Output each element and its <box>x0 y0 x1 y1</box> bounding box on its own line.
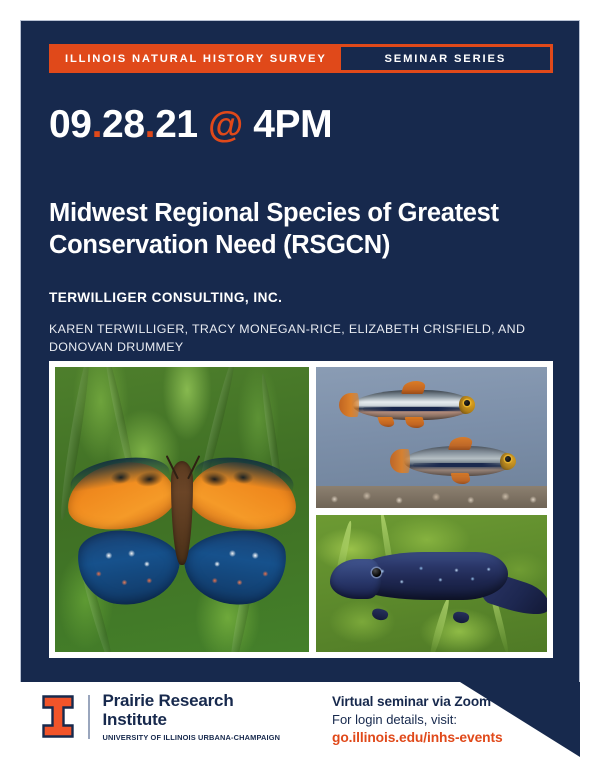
zoom-info-block: Virtual seminar via Zoom For login detai… <box>332 694 503 745</box>
zoom-instructions: For login details, visit: <box>332 712 503 727</box>
banner-series-label: SEMINAR SERIES <box>385 53 507 65</box>
gravel-substrate <box>316 486 547 508</box>
salamander-front-leg <box>371 607 389 621</box>
regal-fritillary-butterfly <box>63 457 301 607</box>
fish-lateral-stripe <box>413 463 505 467</box>
fish-eye <box>505 456 511 462</box>
poster-footer: Prairie Research Institute UNIVERSITY OF… <box>20 682 580 757</box>
blue-spotted-salamander <box>330 548 543 625</box>
event-datetime: 09.28.21 @ 4PM <box>49 105 332 144</box>
seminar-poster: ILLINOIS NATURAL HISTORY SURVEY SEMINAR … <box>0 0 600 777</box>
zoom-title: Virtual seminar via Zoom <box>332 694 503 709</box>
hindwing-right <box>181 526 290 610</box>
salamander-hind-leg <box>452 611 469 624</box>
brand-text: Prairie Research Institute UNIVERSITY OF… <box>103 691 281 742</box>
fish-body <box>353 390 473 420</box>
presenter-organization: TERWILLIGER CONSULTING, INC. <box>49 290 282 305</box>
date-separator-1: . <box>92 103 102 146</box>
event-year: 21 <box>155 103 198 146</box>
fish-lateral-stripe <box>363 407 464 411</box>
institute-name-line1: Prairie Research <box>103 691 281 710</box>
fish-eye <box>464 400 470 406</box>
hindwing-left <box>73 526 182 610</box>
event-time: 4PM <box>253 103 332 146</box>
prairie-research-institute-brand: Prairie Research Institute UNIVERSITY OF… <box>42 691 280 742</box>
butterfly-photo <box>55 367 309 652</box>
fish-body <box>404 446 514 476</box>
collage-right-column <box>316 367 547 652</box>
caudal-fin <box>339 393 359 417</box>
banner-series: SEMINAR SERIES <box>340 46 551 71</box>
photo-collage <box>49 361 553 658</box>
event-month: 09 <box>49 103 92 146</box>
at-symbol-icon: @ <box>208 104 243 145</box>
banner-organization: ILLINOIS NATURAL HISTORY SURVEY <box>49 44 340 73</box>
illinois-block-i-icon <box>42 695 74 738</box>
university-name: UNIVERSITY OF ILLINOIS URBANA-CHAMPAIGN <box>103 733 281 742</box>
event-day: 28 <box>102 103 145 146</box>
salamander-head <box>330 559 381 599</box>
shiner-fish-lower <box>404 446 514 476</box>
institute-name-line2: Institute <box>103 710 281 729</box>
fish-photo <box>316 367 547 508</box>
zoom-url-link[interactable]: go.illinois.edu/inhs-events <box>332 730 503 745</box>
date-separator-2: . <box>145 103 155 146</box>
shiner-fish-upper <box>353 390 473 420</box>
poster-navy-panel: ILLINOIS NATURAL HISTORY SURVEY SEMINAR … <box>20 20 580 757</box>
salamander-photo <box>316 515 547 652</box>
header-banner: ILLINOIS NATURAL HISTORY SURVEY SEMINAR … <box>49 44 553 73</box>
page-title: Midwest Regional Species of Greatest Con… <box>49 198 554 262</box>
brand-divider <box>88 695 90 739</box>
presenter-authors: KAREN TERWILLIGER, TRACY MONEGAN-RICE, E… <box>49 321 549 356</box>
banner-organization-label: ILLINOIS NATURAL HISTORY SURVEY <box>65 53 327 65</box>
caudal-fin <box>390 449 410 473</box>
